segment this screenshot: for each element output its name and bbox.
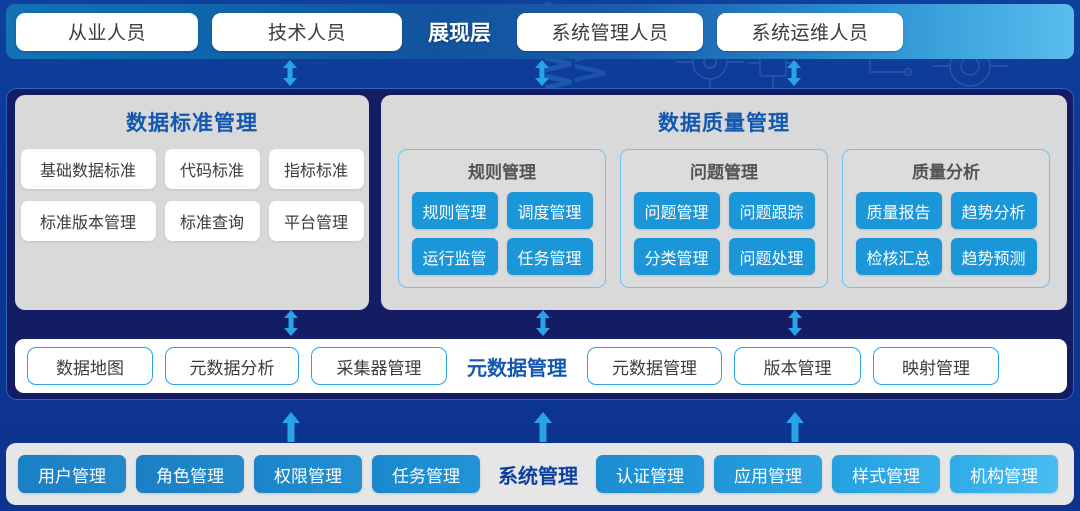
item-label: 标准查询: [180, 209, 244, 233]
item-label: 指标标准: [284, 157, 348, 181]
item-label: 数据地图: [56, 354, 124, 379]
standard-item-basic-data[interactable]: 基础数据标准: [21, 149, 156, 189]
quality-group-issue-management: 问题管理 问题管理 问题跟踪: [620, 149, 828, 288]
role-label: 系统运维人员: [751, 18, 868, 45]
quality-item-runtime-monitor[interactable]: 运行监管: [412, 238, 498, 275]
item-label: 质量报告: [866, 199, 930, 223]
system-management-bar: 用户管理 角色管理 权限管理 任务管理 系统管理 认证管理 应用管理 样式管理 …: [6, 443, 1074, 505]
item-label: 代码标准: [180, 157, 244, 181]
group-row-2: 检核汇总 趋势预测: [856, 238, 1037, 275]
metadata-item-collector-mgmt[interactable]: 采集器管理: [311, 347, 447, 385]
role-label: 从业人员: [68, 18, 146, 45]
group-title: 问题管理: [690, 158, 758, 183]
role-chip-practitioner[interactable]: 从业人员: [16, 13, 198, 51]
arrow-top-1-double-icon: [281, 60, 299, 86]
item-label: 问题处理: [739, 245, 803, 269]
standard-item-code[interactable]: 代码标准: [165, 149, 260, 189]
arrow-mid-2-double-icon: [534, 310, 552, 336]
group-row-2: 分类管理 问题处理: [634, 238, 815, 275]
group-title: 规则管理: [468, 158, 536, 183]
metadata-item-data-map[interactable]: 数据地图: [27, 347, 153, 385]
group-title: 质量分析: [912, 158, 980, 183]
metadata-management-bar: 数据地图 元数据分析 采集器管理 元数据管理 元数据管理 版本管理 映射管理: [15, 339, 1067, 393]
item-label: 机构管理: [970, 462, 1038, 487]
arrow-bottom-2-up-icon: [533, 412, 553, 442]
item-label: 运行监管: [422, 245, 486, 269]
arrow-mid-1-double-icon: [282, 310, 300, 336]
item-label: 角色管理: [156, 462, 224, 487]
panel-title-data-standard: 数据标准管理: [126, 107, 258, 137]
arrow-top-3-double-icon: [785, 60, 803, 86]
quality-item-issue-handling[interactable]: 问题处理: [729, 238, 815, 275]
standard-item-platform-mgmt[interactable]: 平台管理: [269, 201, 364, 241]
presentation-layer-bar: 从业人员 技术人员 展现层 系统管理人员 系统运维人员: [6, 4, 1074, 59]
item-label: 采集器管理: [337, 354, 422, 379]
quality-item-classification-mgmt[interactable]: 分类管理: [634, 238, 720, 275]
role-chip-system-admin[interactable]: 系统管理人员: [517, 13, 703, 51]
role-label: 技术人员: [268, 18, 346, 45]
panel-title-data-quality: 数据质量管理: [658, 107, 790, 137]
metadata-item-mapping-mgmt[interactable]: 映射管理: [873, 347, 999, 385]
standard-row-2: 标准版本管理 标准查询 平台管理: [21, 201, 364, 241]
system-item-user-mgmt[interactable]: 用户管理: [18, 455, 126, 493]
item-label: 检核汇总: [866, 245, 930, 269]
standard-item-version-mgmt[interactable]: 标准版本管理: [21, 201, 156, 241]
system-row-title: 系统管理: [490, 460, 586, 489]
arrow-mid-3-double-icon: [786, 310, 804, 336]
data-quality-management-panel: 数据质量管理 规则管理 规则管理 调度管理: [381, 95, 1067, 310]
role-chip-technician[interactable]: 技术人员: [212, 13, 402, 51]
presentation-layer-title: 展现层: [416, 17, 503, 47]
item-label: 基础数据标准: [40, 157, 136, 181]
system-item-auth-mgmt[interactable]: 认证管理: [596, 455, 704, 493]
architecture-diagram: 从业人员 技术人员 展现层 系统管理人员 系统运维人员 数据标准管理: [0, 0, 1080, 511]
metadata-item-metadata-analysis[interactable]: 元数据分析: [165, 347, 299, 385]
arrow-top-2-double-icon: [533, 60, 551, 86]
item-label: 版本管理: [764, 354, 832, 379]
arrow-bottom-1-up-icon: [281, 412, 301, 442]
item-label: 用户管理: [38, 462, 106, 487]
quality-item-rule-mgmt[interactable]: 规则管理: [412, 192, 498, 229]
system-item-org-mgmt[interactable]: 机构管理: [950, 455, 1058, 493]
item-label: 应用管理: [734, 462, 802, 487]
metadata-item-metadata-mgmt[interactable]: 元数据管理: [587, 347, 722, 385]
quality-item-schedule-mgmt[interactable]: 调度管理: [507, 192, 593, 229]
item-label: 元数据分析: [190, 354, 275, 379]
item-label: 标准版本管理: [40, 209, 136, 233]
role-chip-system-ops[interactable]: 系统运维人员: [717, 13, 903, 51]
item-label: 分类管理: [644, 245, 708, 269]
metadata-item-version-mgmt[interactable]: 版本管理: [734, 347, 861, 385]
data-standard-management-panel: 数据标准管理 基础数据标准 代码标准 指标标准: [15, 95, 369, 310]
item-label: 认证管理: [616, 462, 684, 487]
quality-item-check-summary[interactable]: 检核汇总: [856, 238, 942, 275]
standard-item-query[interactable]: 标准查询: [165, 201, 260, 241]
quality-item-trend-forecast[interactable]: 趋势预测: [951, 238, 1037, 275]
quality-item-task-mgmt[interactable]: 任务管理: [507, 238, 593, 275]
system-item-style-mgmt[interactable]: 样式管理: [832, 455, 940, 493]
item-label: 调度管理: [517, 199, 581, 223]
quality-group-quality-analysis: 质量分析 质量报告 趋势分析: [842, 149, 1050, 288]
core-panels-row: 数据标准管理 基础数据标准 代码标准 指标标准: [15, 95, 1067, 310]
role-label: 系统管理人员: [551, 18, 668, 45]
group-row-1: 问题管理 问题跟踪: [634, 192, 815, 229]
quality-item-issue-tracking[interactable]: 问题跟踪: [729, 192, 815, 229]
metadata-row-title: 元数据管理: [459, 352, 575, 381]
quality-item-quality-report[interactable]: 质量报告: [856, 192, 942, 229]
quality-group-rule-management: 规则管理 规则管理 调度管理: [398, 149, 606, 288]
system-item-app-mgmt[interactable]: 应用管理: [714, 455, 822, 493]
system-item-task-mgmt[interactable]: 任务管理: [372, 455, 480, 493]
system-item-permission-mgmt[interactable]: 权限管理: [254, 455, 362, 493]
item-label: 元数据管理: [612, 354, 697, 379]
item-label: 任务管理: [392, 462, 460, 487]
item-label: 样式管理: [852, 462, 920, 487]
item-label: 映射管理: [902, 354, 970, 379]
quality-item-trend-analysis[interactable]: 趋势分析: [951, 192, 1037, 229]
system-item-role-mgmt[interactable]: 角色管理: [136, 455, 244, 493]
quality-item-issue-mgmt[interactable]: 问题管理: [634, 192, 720, 229]
group-row-1: 质量报告 趋势分析: [856, 192, 1037, 229]
group-row-1: 规则管理 调度管理: [412, 192, 593, 229]
governance-core-container: 数据标准管理 基础数据标准 代码标准 指标标准: [6, 88, 1074, 400]
item-label: 趋势分析: [961, 199, 1025, 223]
standard-row-1: 基础数据标准 代码标准 指标标准: [21, 149, 364, 189]
item-label: 问题跟踪: [739, 199, 803, 223]
group-row-2: 运行监管 任务管理: [412, 238, 593, 275]
standard-item-indicator[interactable]: 指标标准: [269, 149, 364, 189]
arrow-bottom-3-up-icon: [785, 412, 805, 442]
item-label: 权限管理: [274, 462, 342, 487]
item-label: 平台管理: [284, 209, 348, 233]
item-label: 趋势预测: [961, 245, 1025, 269]
item-label: 问题管理: [644, 199, 708, 223]
item-label: 规则管理: [422, 199, 486, 223]
item-label: 任务管理: [517, 245, 581, 269]
